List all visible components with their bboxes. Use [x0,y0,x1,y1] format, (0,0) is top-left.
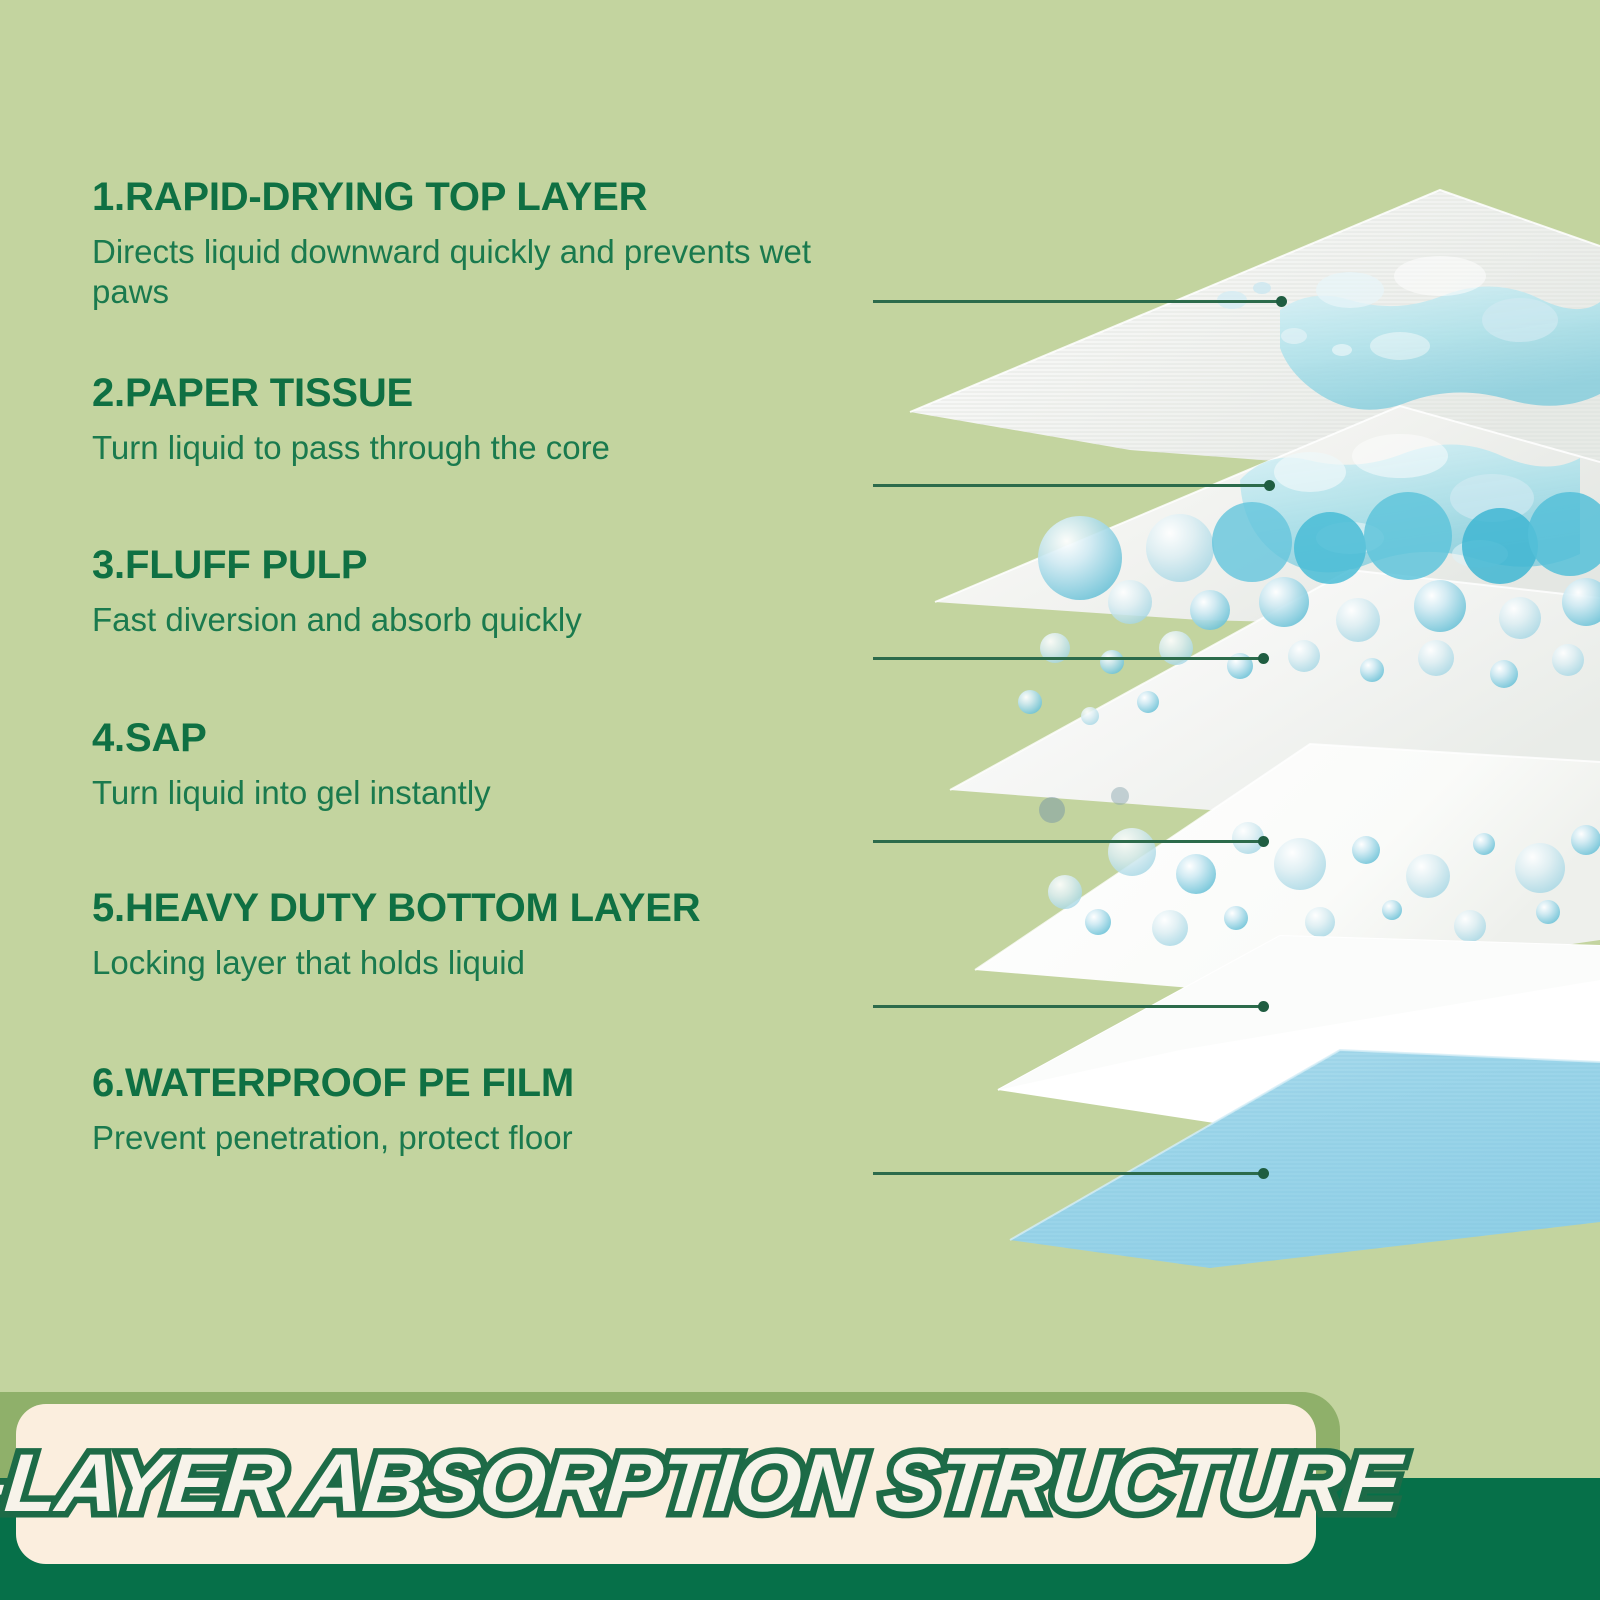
layer-description-3: Fast diversion and absorb quickly [92,600,882,640]
layer-title-3: 3.FLUFF PULP [92,544,882,586]
layer-title-6: 6.WATERPROOF PE FILM [92,1062,882,1104]
leader-line-5 [873,1005,1265,1008]
leader-line-6 [873,1172,1265,1175]
banner-card: 6-LAYER ABSORPTION STRUCTURE [16,1404,1316,1564]
leader-dot-5 [1258,1001,1269,1012]
layer-title-4: 4.SAP [92,717,882,759]
layer-stack-illustration [880,150,1600,1270]
leader-dot-1 [1276,296,1287,307]
leader-dot-2 [1264,480,1275,491]
leader-dot-4 [1258,836,1269,847]
layer-title-5: 5.HEAVY DUTY BOTTOM LAYER [92,887,882,929]
layer-description-5: Locking layer that holds liquid [92,943,882,983]
leader-dot-3 [1258,653,1269,664]
layer-title-1: 1.RAPID-DRYING TOP LAYER [92,176,882,218]
layer-description-1: Directs liquid downward quickly and prev… [92,232,882,313]
banner-title: 6-LAYER ABSORPTION STRUCTURE [0,1437,1404,1531]
leader-line-4 [873,840,1265,843]
leader-dot-6 [1258,1168,1269,1179]
layer-item-4: 4.SAP Turn liquid into gel instantly [92,717,882,813]
layer-description-4: Turn liquid into gel instantly [92,773,882,813]
layer-description-6: Prevent penetration, protect floor [92,1118,882,1158]
layer-item-6: 6.WATERPROOF PE FILM Prevent penetration… [92,1062,882,1158]
layer-item-3: 3.FLUFF PULP Fast diversion and absorb q… [92,544,882,640]
leader-line-1 [873,300,1283,303]
layer-title-2: 2.PAPER TISSUE [92,372,882,414]
leader-line-3 [873,657,1265,660]
layer-description-2: Turn liquid to pass through the core [92,428,882,468]
layer-item-1: 1.RAPID-DRYING TOP LAYER Directs liquid … [92,176,882,313]
leader-line-2 [873,484,1271,487]
layer-item-5: 5.HEAVY DUTY BOTTOM LAYER Locking layer … [92,887,882,983]
layer-item-2: 2.PAPER TISSUE Turn liquid to pass throu… [92,372,882,468]
